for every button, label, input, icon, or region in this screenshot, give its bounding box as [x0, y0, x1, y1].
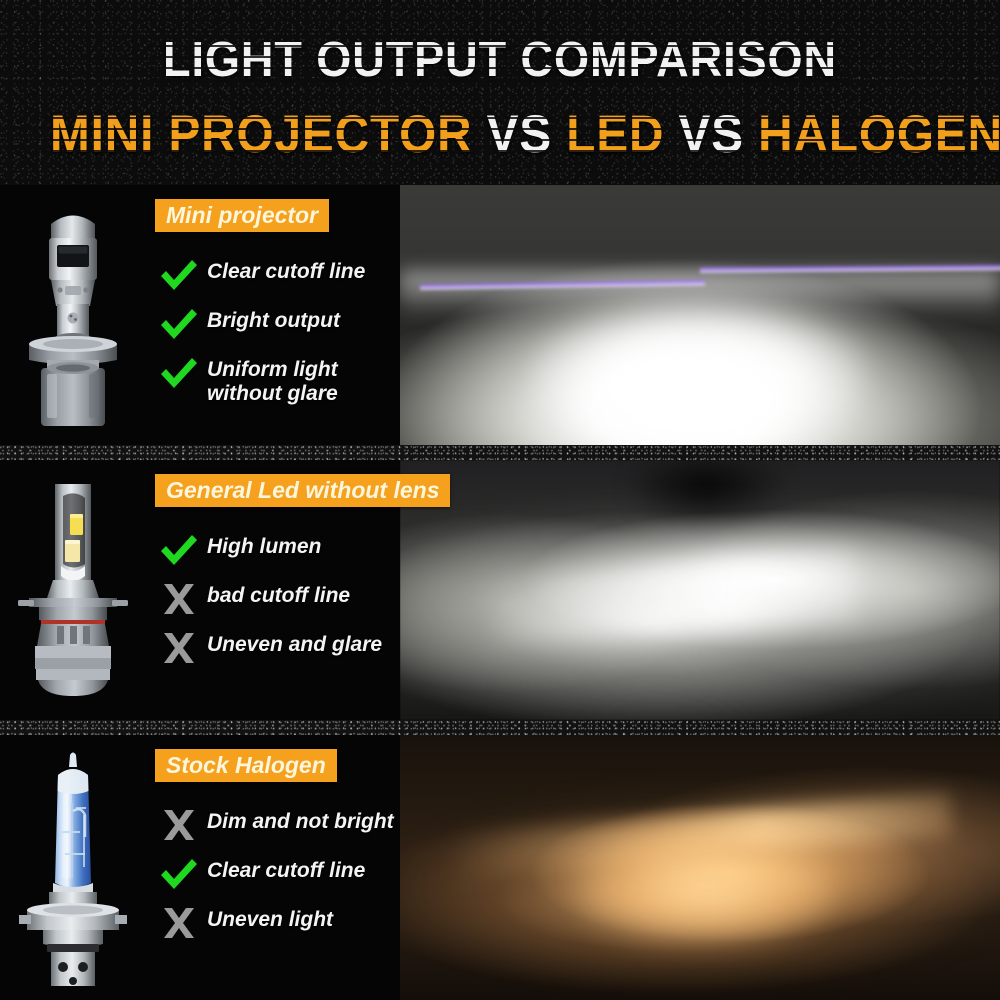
- check-icon: [157, 306, 201, 342]
- beam-pattern-projector: [400, 185, 1000, 445]
- feature-label: bad cutoff line: [207, 581, 350, 608]
- subtitle-part-vs-2: VS: [679, 108, 744, 161]
- comparison-panel-mini-projector: Mini projector Clear cutoff line: [0, 185, 1000, 445]
- panel-left-mini-projector: Mini projector Clear cutoff line: [0, 185, 400, 445]
- infographic-root: LIGHT OUTPUT COMPARISON MINI PROJECTOR V…: [0, 0, 1000, 1000]
- beam-hotspot: [532, 299, 868, 445]
- comparison-panel-general-led: General Led without lens High lumen: [0, 460, 1000, 720]
- cross-icon: [157, 630, 201, 666]
- beam-pattern-halogen: [400, 735, 1000, 1000]
- page-title: LIGHT OUTPUT COMPARISON: [40, 36, 960, 85]
- panel-divider-2: [0, 720, 1000, 735]
- subtitle-part-vs-1: VS: [487, 108, 552, 161]
- feature-label: Clear cutoff line: [207, 856, 365, 883]
- feature-label: High lumen: [207, 532, 321, 559]
- subtitle-part-led: LED: [566, 108, 664, 161]
- feature-label: Clear cutoff line: [207, 257, 365, 284]
- led-beam-photo: [400, 460, 1000, 720]
- category-label-stock-halogen: Stock Halogen: [155, 749, 337, 782]
- panel-left-general-led: General Led without lens High lumen: [0, 460, 400, 720]
- category-label-general-led: General Led without lens: [155, 474, 450, 507]
- check-icon: [157, 856, 201, 892]
- cross-icon: [157, 581, 201, 617]
- text-block-stock-halogen: Stock Halogen Dim and not bright: [155, 735, 400, 1000]
- feature-label: Uniform light without glare: [207, 355, 338, 405]
- text-block-general-led: General Led without lens High lumen: [155, 460, 400, 720]
- mini-projector-bulb: [0, 185, 145, 445]
- halogen-beam-photo: [400, 735, 1000, 1000]
- subtitle-part-halogen: HALOGEN: [758, 108, 1000, 161]
- check-icon: [157, 257, 201, 293]
- comparison-panel-stock-halogen: Stock Halogen Dim and not bright: [0, 735, 1000, 1000]
- page-subtitle: MINI PROJECTOR VS LED VS HALOGEN: [50, 108, 950, 161]
- feature-label: Uneven light: [207, 905, 333, 932]
- header: LIGHT OUTPUT COMPARISON MINI PROJECTOR V…: [0, 0, 1000, 185]
- category-label-mini-projector: Mini projector: [155, 199, 329, 232]
- beam-pattern-led: [400, 460, 1000, 720]
- beam-haze: [400, 460, 1000, 720]
- beam-glow: [400, 735, 1000, 1000]
- feature-label: Bright output: [207, 306, 340, 333]
- halogen-bulb: [0, 735, 145, 1000]
- panel-divider-1: [0, 445, 1000, 460]
- check-icon: [157, 532, 201, 568]
- mini-projector-beam-photo: [400, 185, 1000, 445]
- subtitle-part-mini-projector: MINI PROJECTOR: [50, 108, 473, 161]
- cross-icon: [157, 807, 201, 843]
- led-bulb: [0, 460, 145, 720]
- check-icon: [157, 355, 201, 391]
- feature-label: Uneven and glare: [207, 630, 382, 657]
- text-block-mini-projector: Mini projector Clear cutoff line: [155, 185, 400, 445]
- panel-left-stock-halogen: Stock Halogen Dim and not bright: [0, 735, 400, 1000]
- cross-icon: [157, 905, 201, 941]
- page-title-text: LIGHT OUTPUT COMPARISON: [163, 36, 837, 85]
- feature-label: Dim and not bright: [207, 807, 394, 834]
